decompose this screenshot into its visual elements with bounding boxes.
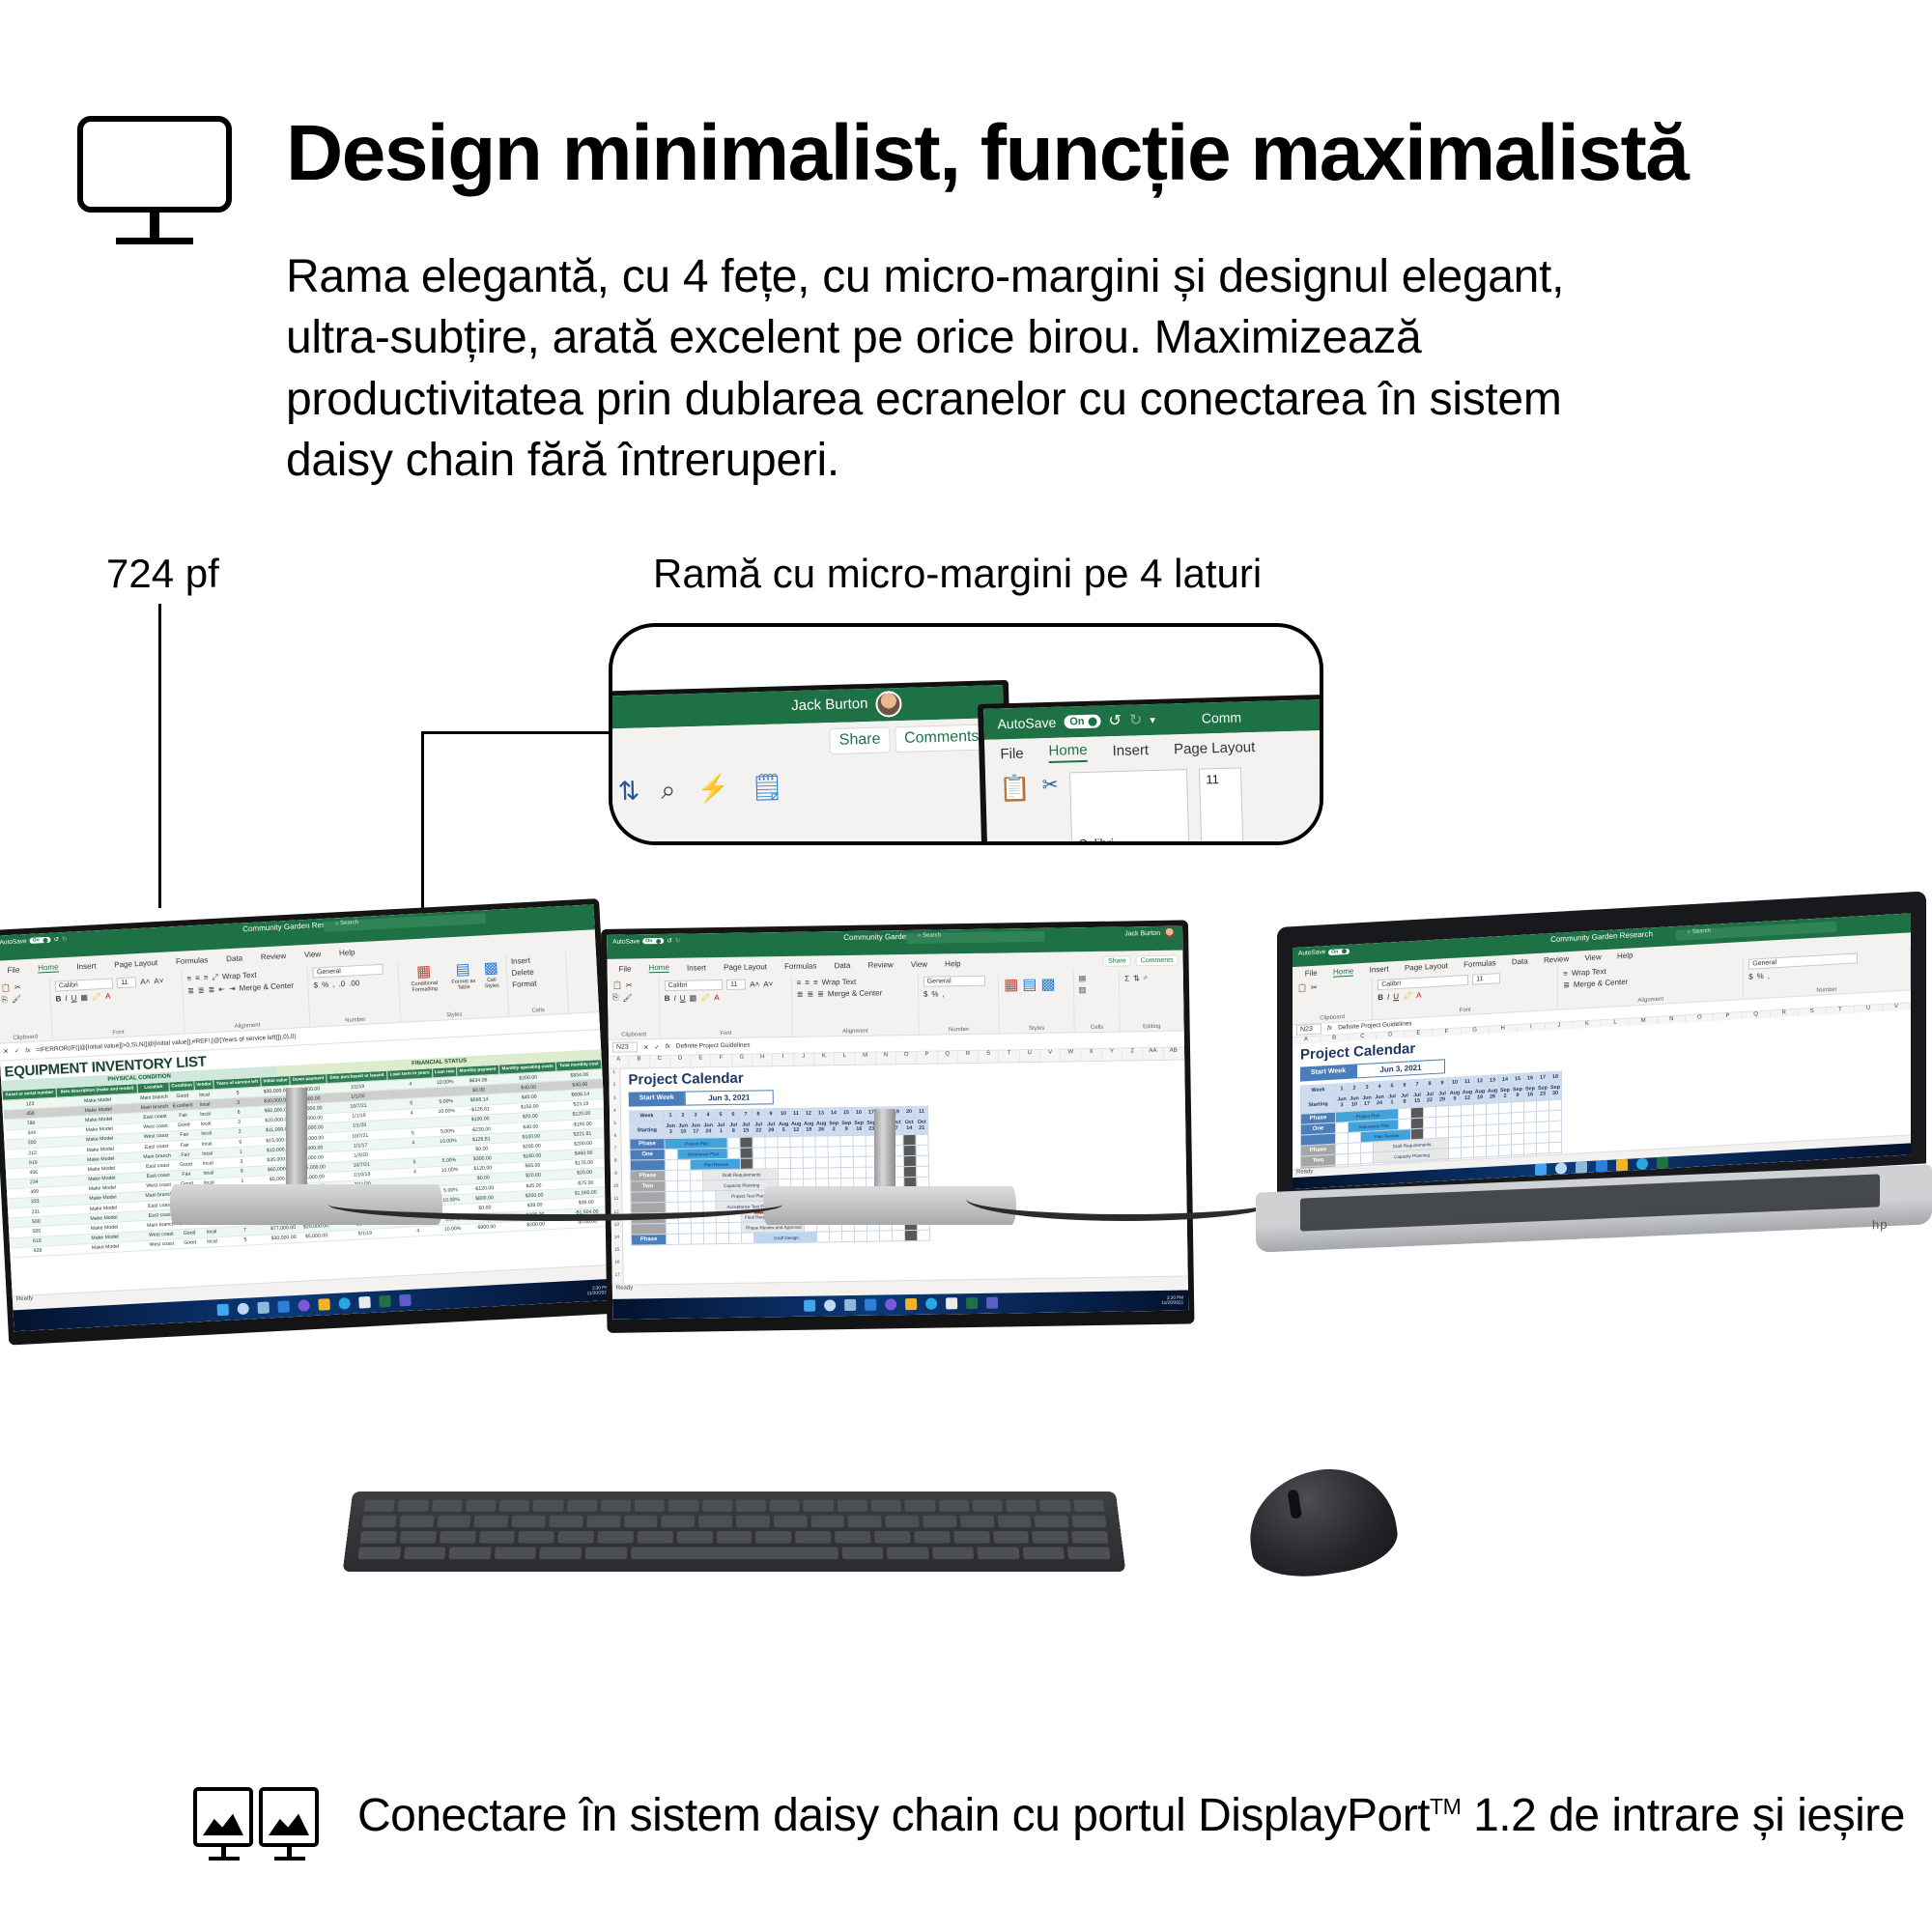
font-color-icon[interactable]: A [105,991,111,1000]
keyboard-key[interactable] [795,1531,831,1544]
currency-icon[interactable]: $ [923,990,928,999]
font-size-select[interactable]: 11 [117,977,137,988]
italic-button[interactable]: I [673,994,675,1003]
wrap-text-button[interactable]: Wrap Text [822,978,857,987]
tab-review[interactable]: Review [867,960,893,969]
fill-color-icon[interactable]: 🖍 [92,992,102,1002]
keyboard-key[interactable] [923,1516,957,1527]
keyboard-key[interactable] [804,1500,834,1512]
gantt-cell[interactable] [841,1232,854,1242]
file-explorer-icon[interactable] [905,1298,917,1310]
gantt-cell[interactable] [917,1230,929,1240]
keyboard-key[interactable] [398,1500,429,1512]
column-header-q[interactable]: Q [938,1051,958,1064]
align-middle-icon[interactable]: ≡ [195,974,200,982]
tab-file[interactable]: File [7,965,19,975]
tab-page-layout[interactable]: Page Layout [724,962,767,972]
conditional-formatting-button[interactable]: ▦ Conditional Formatting [403,960,445,993]
keyboard-key[interactable] [363,1500,394,1512]
gantt-cell[interactable] [803,1136,815,1147]
user-chip[interactable]: Jack Burton [1124,928,1175,940]
gantt-cell[interactable] [790,1148,803,1158]
gantt-cell[interactable] [1512,1133,1524,1145]
keyboard-key[interactable] [499,1500,530,1512]
search-icon[interactable] [824,1299,836,1311]
row-header-4[interactable]: 4 [610,1107,620,1120]
table-cell[interactable]: 5/1/19 [334,1228,395,1240]
decrease-font-icon[interactable]: A˅ [154,976,163,985]
column-header-b[interactable]: B [629,1056,649,1068]
customize-quick-access-icon[interactable]: ▾ [1150,713,1155,725]
keyboard-key[interactable] [474,1516,509,1527]
bold-button[interactable]: B [55,994,61,1003]
gantt-cell[interactable] [665,1171,677,1181]
gantt-cell[interactable] [1524,1122,1537,1133]
gantt-cell[interactable] [1349,1153,1361,1165]
column-header-s[interactable]: S [979,1050,999,1063]
tab-file[interactable]: File [1000,745,1024,762]
align-left-icon[interactable]: ≣ [1563,980,1570,989]
keyboard-key[interactable] [835,1531,870,1544]
borders-icon[interactable]: ▦ [689,994,696,1003]
table-cell[interactable]: local [202,1236,221,1247]
gantt-cell[interactable] [803,1168,815,1179]
font-size-select[interactable]: 11 [1199,767,1245,845]
tab-home[interactable]: Home [1048,741,1088,762]
tab-review[interactable]: Review [261,952,287,961]
format-cells-button[interactable]: Format [512,979,537,988]
keyboard-key[interactable] [540,1547,582,1559]
keyboard-key[interactable] [494,1547,536,1559]
gantt-cell[interactable] [853,1147,866,1157]
keyboard-key[interactable] [841,1547,883,1559]
gantt-bar[interactable]: Assurance Plan [677,1149,727,1160]
format-painter-icon[interactable]: 🖌 [12,995,22,1005]
gantt-cell[interactable] [1524,1143,1537,1154]
gantt-cell[interactable] [778,1169,790,1179]
tab-home[interactable]: Home [38,963,59,974]
start-icon[interactable] [1535,1163,1547,1176]
keyboard-key[interactable] [1071,1531,1108,1544]
cut-icon[interactable]: ✂ [1041,773,1062,845]
tab-formulas[interactable]: Formulas [784,961,816,971]
align-top-icon[interactable]: ≡ [186,974,191,982]
font-name-select[interactable]: Calibri [664,980,723,991]
search-input[interactable]: ⌕ Search [906,931,1044,944]
keyboard-key[interactable] [953,1531,990,1544]
gantt-cell[interactable] [678,1223,691,1234]
gantt-cell[interactable] [840,1157,853,1168]
gantt-cell[interactable] [1336,1153,1349,1165]
keyboard-key[interactable] [357,1547,400,1559]
format-as-table-icon[interactable]: ▤ [1022,975,1037,994]
font-color-icon[interactable]: A [714,993,719,1002]
table-cell[interactable]: 4 [395,1225,440,1237]
gantt-cell[interactable] [1462,1125,1474,1137]
insert-cells-icon[interactable]: ▤ [1079,974,1087,982]
cancel-icon[interactable]: ✕ [643,1043,649,1051]
gantt-cell[interactable] [716,1223,728,1234]
keyboard-key[interactable] [437,1516,471,1527]
decrease-decimal-icon[interactable]: .00 [349,979,360,988]
teams-icon[interactable] [399,1294,412,1307]
cell-styles-icon[interactable]: ▩ [1040,975,1055,994]
column-header-z[interactable]: Z [1122,1048,1143,1061]
keyboard-key[interactable] [399,1531,436,1544]
borders-icon[interactable]: ▦ [80,993,88,1002]
find-select-icon[interactable]: ⌕ [661,778,676,804]
sort-filter-icon[interactable]: ⇅ [1133,974,1140,982]
column-header-i[interactable]: I [773,1054,793,1066]
align-top-icon[interactable]: ≡ [1563,969,1568,978]
table-cell[interactable]: Good [177,1237,203,1249]
start-icon[interactable] [216,1304,229,1317]
gantt-cell[interactable] [665,1150,677,1160]
wireless-mouse[interactable] [1240,1460,1402,1585]
gantt-cell[interactable] [790,1169,803,1179]
gantt-cell[interactable] [1462,1136,1474,1148]
gantt-cell[interactable] [1449,1126,1462,1138]
bold-button[interactable]: B [1378,993,1383,1002]
gantt-cell[interactable] [1537,1143,1549,1154]
gantt-cell[interactable] [778,1137,790,1148]
row-header-16[interactable]: 16 [611,1260,622,1272]
keyboard-key[interactable] [1032,1531,1068,1544]
gantt-cell[interactable] [1549,1110,1562,1122]
keyboard-key[interactable] [887,1547,929,1559]
underline-button[interactable]: U [71,993,76,1002]
gantt-cell[interactable] [1512,1101,1524,1113]
gantt-cell[interactable] [803,1147,815,1157]
row-header-8[interactable]: 8 [611,1158,621,1171]
gantt-cell[interactable] [828,1147,840,1157]
gantt-cell[interactable] [828,1168,840,1179]
gantt-cell[interactable] [840,1147,853,1157]
gantt-cell[interactable] [803,1157,815,1168]
gantt-cell[interactable] [727,1138,740,1149]
column-header-f[interactable]: F [711,1055,731,1067]
keyboard-key[interactable] [1006,1500,1037,1512]
comma-icon[interactable]: , [332,980,335,988]
name-box[interactable]: N23 [1296,1024,1321,1036]
fill-color-icon[interactable]: 🖍 [1403,991,1412,1001]
row-header-7[interactable]: 7 [611,1146,621,1158]
row-header-6[interactable]: 6 [610,1133,620,1146]
gantt-cell[interactable] [916,1166,928,1177]
keyboard-key[interactable] [567,1500,598,1512]
mid-worksheet[interactable]: 1234567891011121314151617 Project Calend… [609,1061,1187,1285]
tab-data[interactable]: Data [226,953,242,963]
gantt-cell[interactable] [854,1232,867,1242]
tab-view[interactable]: View [1585,952,1602,962]
wrap-text-button[interactable]: Wrap Text [1572,967,1606,978]
task-view-icon[interactable] [1576,1161,1587,1174]
gantt-cell[interactable] [753,1158,765,1169]
row-header-15[interactable]: 15 [611,1247,622,1260]
gantt-cell[interactable] [815,1136,828,1147]
insert-function-icon[interactable]: fx [1327,1025,1332,1032]
fill-color-icon[interactable]: 🖍 [700,994,710,1003]
keyboard-key[interactable] [932,1547,975,1559]
gantt-cell[interactable] [790,1137,803,1148]
keyboard-key[interactable] [736,1500,766,1512]
gantt-cell[interactable] [1499,1113,1512,1124]
column-header-v[interactable]: V [1040,1049,1061,1062]
paste-icon[interactable]: 📋 [999,774,1035,845]
gantt-cell[interactable] [1474,1114,1487,1125]
store-icon[interactable] [946,1298,957,1310]
column-header-l[interactable]: L [835,1053,855,1065]
gantt-cell[interactable] [816,1232,829,1242]
keyboard-key[interactable] [478,1531,515,1544]
gantt-cell[interactable] [815,1157,828,1168]
gantt-cell[interactable] [1487,1124,1499,1136]
gantt-cell[interactable] [853,1157,866,1168]
column-header-t[interactable]: T [999,1050,1019,1063]
keyboard-key[interactable] [677,1531,713,1544]
cell-styles-button[interactable]: ▩ Cell Styles [481,957,502,989]
column-header-y[interactable]: Y [1102,1048,1122,1061]
row-header-2[interactable]: 2 [609,1082,619,1094]
gantt-cell[interactable] [1349,1143,1361,1154]
task-view-icon[interactable] [257,1301,270,1314]
table-cell[interactable]: West coast [146,1239,178,1251]
row-header-17[interactable]: 17 [612,1272,623,1285]
italic-button[interactable]: I [1387,993,1389,1002]
keyboard-key[interactable] [518,1531,554,1544]
keyboard-key[interactable] [511,1516,546,1527]
keyboard-key[interactable] [1071,1516,1106,1527]
merge-center-button[interactable]: Merge & Center [239,980,294,992]
font-name-select[interactable]: Calibri [55,978,114,991]
gantt-cell[interactable] [867,1231,879,1241]
column-header-o[interactable]: O [896,1052,917,1065]
name-box[interactable]: N23 [612,1042,638,1053]
keyboard-key[interactable] [810,1516,844,1527]
percent-icon[interactable]: % [322,980,329,989]
format-as-table-button[interactable]: ▤ Format as Table [447,958,478,991]
gantt-bar[interactable]: Draft Design [753,1232,816,1243]
gantt-cell[interactable] [1436,1127,1449,1139]
cancel-icon[interactable]: ✕ [3,1048,9,1056]
gantt-cell[interactable] [1462,1115,1474,1126]
row-header-5[interactable]: 5 [610,1120,620,1132]
edge-icon[interactable] [925,1298,937,1310]
decrease-font-icon[interactable]: A˅ [763,980,773,989]
table-cell[interactable]: 5 [221,1235,270,1247]
font-name-select[interactable]: Calibri⌄ [1069,769,1191,845]
gantt-cell[interactable] [677,1170,690,1180]
keyboard-key[interactable] [997,1516,1032,1527]
gantt-cell[interactable] [703,1223,716,1234]
paste-icon[interactable]: 📋 [612,981,622,990]
font-color-icon[interactable]: A [1416,991,1421,1000]
sensitivity-icon[interactable]: 🗒 [751,774,784,801]
keyboard-key[interactable] [601,1500,631,1512]
column-header-k[interactable]: K [814,1053,835,1065]
keyboard-key[interactable] [661,1516,695,1527]
tab-help[interactable]: Help [1617,951,1633,960]
column-header-d[interactable]: D [670,1055,691,1067]
gantt-cell[interactable] [916,1145,928,1155]
gantt-cell[interactable] [1424,1106,1436,1118]
gantt-cell[interactable] [1512,1112,1524,1123]
start-week-control[interactable]: Start Week Jun 3, 2021 [629,1091,774,1107]
gantt-cell[interactable] [815,1147,828,1157]
row-header-14[interactable]: 14 [611,1234,622,1246]
delete-cells-icon[interactable]: ▥ [1079,985,1087,994]
keyboard-key[interactable] [774,1516,808,1527]
gantt-cell[interactable] [1549,1099,1562,1111]
widgets-icon[interactable] [865,1299,876,1311]
increase-font-icon[interactable]: A˄ [140,977,150,986]
undo-icon[interactable]: ↺ [1108,711,1122,730]
keyboard-key[interactable] [871,1500,902,1512]
teams-icon[interactable] [986,1297,998,1309]
redo-icon[interactable]: ↻ [1129,710,1143,729]
gantt-cell[interactable] [1524,1100,1537,1112]
keyboard-key[interactable] [770,1500,800,1512]
sort-filter-icon[interactable]: ⇅ [617,779,639,806]
tab-page-layout[interactable]: Page Layout [1405,961,1448,973]
column-header-p[interactable]: P [917,1051,937,1064]
keyboard-key[interactable] [1067,1547,1110,1559]
gantt-cell[interactable] [1499,1145,1512,1156]
keyboard-key[interactable] [635,1500,665,1512]
gantt-cell[interactable] [1524,1111,1537,1122]
gantt-cell[interactable] [829,1232,841,1242]
keyboard-key[interactable] [586,1516,620,1527]
tab-formulas[interactable]: Formulas [176,955,209,966]
wrap-text-button[interactable]: Wrap Text [222,971,257,981]
excel-icon[interactable] [966,1297,978,1309]
tab-file[interactable]: File [618,964,631,973]
keyboard-key[interactable] [960,1516,995,1527]
gantt-cell[interactable] [690,1170,702,1180]
keyboard-key[interactable] [1022,1547,1065,1559]
gantt-cell[interactable] [916,1135,928,1146]
excel-icon[interactable] [1657,1156,1668,1169]
keyboard-key[interactable] [361,1516,396,1527]
gantt-cell[interactable] [1474,1124,1487,1136]
gantt-cell[interactable] [741,1233,753,1243]
column-header-g[interactable]: G [732,1054,753,1066]
keyboard-key[interactable] [736,1516,770,1527]
start-icon[interactable] [804,1300,815,1312]
cut-icon[interactable]: ✂ [626,981,633,990]
column-header-ab[interactable]: AB [1164,1047,1184,1060]
gantt-cell[interactable] [853,1168,866,1179]
gantt-cell[interactable] [1349,1132,1361,1144]
row-header-3[interactable]: 3 [610,1094,620,1107]
keyboard-key[interactable] [1039,1500,1070,1512]
gantt-cell[interactable] [1449,1116,1462,1127]
gantt-cell[interactable] [691,1180,703,1191]
column-header-j[interactable]: J [794,1053,814,1065]
gantt-cell[interactable] [879,1231,892,1241]
start-week-value[interactable]: Jun 3, 2021 [685,1091,774,1106]
delete-cells-button[interactable]: Delete [511,967,534,977]
file-explorer-icon[interactable] [1616,1158,1628,1171]
align-bottom-icon[interactable]: ≡ [813,979,818,987]
gantt-cell[interactable] [1449,1148,1462,1159]
orientation-icon[interactable]: ⤢ [212,972,218,981]
gantt-cell[interactable] [1336,1132,1349,1144]
tab-insert[interactable]: Insert [687,963,706,972]
tab-view[interactable]: View [911,960,927,969]
gantt-cell[interactable] [691,1223,703,1234]
gantt-cell[interactable] [1424,1117,1436,1128]
keyboard-key[interactable] [638,1531,673,1544]
keyboard-key[interactable] [359,1531,396,1544]
gantt-cell[interactable] [1537,1100,1549,1112]
gantt-cell[interactable] [1399,1119,1411,1130]
gantt-cell[interactable] [765,1148,778,1158]
keyboard-key[interactable] [698,1516,732,1527]
gantt-cell[interactable] [1512,1144,1524,1155]
keyboard-key[interactable] [624,1516,658,1527]
merge-center-button[interactable]: Merge & Center [1574,978,1628,989]
insert-cells-button[interactable]: Insert [511,956,530,966]
gantt-cell[interactable] [1524,1132,1537,1144]
gantt-cell[interactable] [892,1231,904,1241]
comments-button[interactable]: Comments [895,724,989,753]
gantt-cell[interactable] [1499,1102,1512,1114]
search-icon[interactable] [237,1303,249,1316]
keyboard-key[interactable] [972,1500,1003,1512]
gantt-cell[interactable] [1436,1106,1449,1118]
gantt-cell[interactable] [1549,1142,1562,1153]
increase-indent-icon[interactable]: ⇥ [229,984,236,993]
comma-icon[interactable]: , [1768,971,1770,980]
number-format-select[interactable]: General [313,964,384,979]
widgets-icon[interactable] [1596,1160,1607,1173]
gantt-cell[interactable] [1462,1104,1474,1116]
format-painter-icon[interactable]: 🖌 [622,993,632,1002]
row-header-1[interactable]: 1 [609,1069,619,1082]
gantt-cell[interactable] [716,1234,728,1244]
gantt-cell[interactable] [765,1137,778,1148]
gantt-cell[interactable] [665,1160,677,1171]
tab-insert[interactable]: Insert [76,961,96,971]
gantt-cell[interactable] [727,1149,740,1159]
store-icon[interactable] [358,1296,371,1309]
percent-icon[interactable]: % [1757,972,1764,980]
gantt-cell[interactable] [691,1234,703,1244]
avatar[interactable] [875,691,902,718]
column-header-aa[interactable]: AA [1143,1048,1163,1061]
keyboard-key[interactable] [874,1531,911,1544]
tab-formulas[interactable]: Formulas [1463,958,1495,969]
gantt-cell[interactable] [666,1235,678,1245]
gantt-cell[interactable] [1487,1135,1499,1147]
autosave-toggle[interactable]: On [1064,714,1101,728]
align-center-icon[interactable]: ≣ [198,985,205,994]
paste-icon[interactable]: 📋 [1,983,11,993]
currency-icon[interactable]: $ [313,980,318,989]
column-header-h[interactable]: H [753,1054,773,1066]
column-header-x[interactable]: X [1081,1049,1101,1062]
insert-function-icon[interactable]: fx [25,1047,30,1054]
tab-review[interactable]: Review [1544,954,1569,964]
gantt-cell[interactable] [753,1148,765,1158]
paste-icon[interactable]: 📋 [1297,983,1307,993]
underline-button[interactable]: U [680,994,686,1003]
gantt-cell[interactable] [1499,1134,1512,1146]
keyboard-key[interactable] [993,1531,1030,1544]
gantt-cell[interactable] [853,1136,866,1147]
keyboard-key[interactable] [885,1516,919,1527]
